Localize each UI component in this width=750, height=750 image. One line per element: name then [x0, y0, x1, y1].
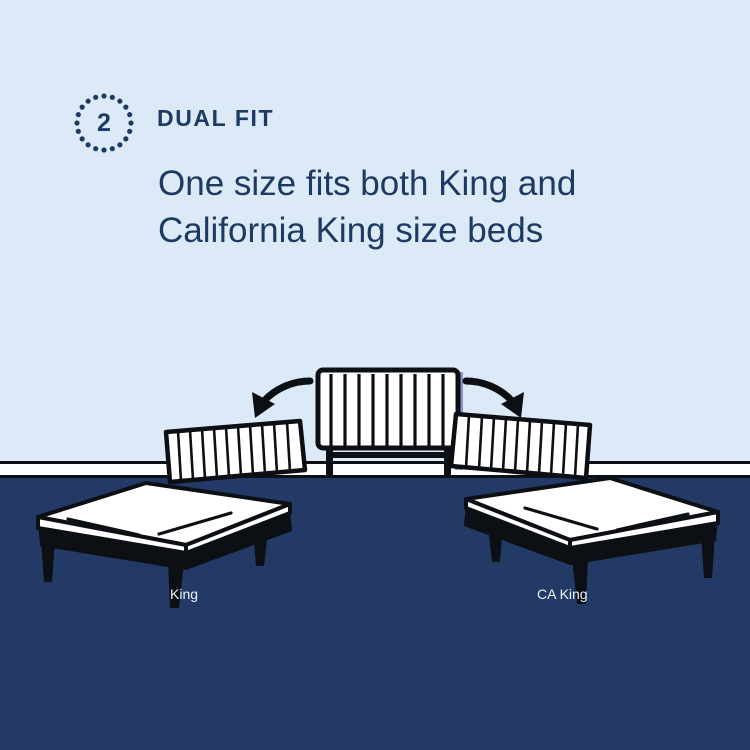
- step-badge: 2: [73, 92, 135, 154]
- headline-line-2: California King size beds: [158, 207, 718, 254]
- bed-label-king: King: [170, 586, 198, 602]
- headline: One size fits both King and California K…: [158, 160, 718, 254]
- infographic-canvas: 2 DUAL FIT One size fits both King and C…: [0, 0, 750, 750]
- bed-label-ca-king: CA King: [537, 586, 588, 602]
- baseboard: [0, 464, 750, 475]
- step-badge-number: 2: [73, 92, 135, 154]
- floor-background: [0, 478, 750, 750]
- section-eyebrow: DUAL FIT: [157, 105, 274, 132]
- headline-line-1: One size fits both King and: [158, 160, 718, 207]
